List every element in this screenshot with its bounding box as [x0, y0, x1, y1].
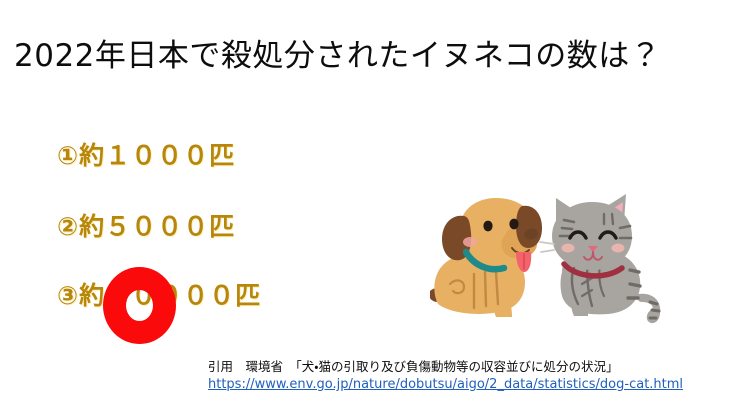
choice-option-1[interactable]: ①約１０００匹 — [57, 141, 235, 171]
red-answer-circle-icon — [103, 267, 176, 344]
citation-source: 引用 環境省 「犬・猫の引取り及び負傷動物等の収容並びに処分の状況」 — [208, 359, 619, 374]
citation: 引用 環境省 「犬・猫の引取り及び負傷動物等の収容並びに処分の状況」 https… — [208, 358, 683, 394]
citation-url-link[interactable]: https://www.env.go.jp/nature/dobutsu/aig… — [208, 376, 683, 394]
page-title: 2022年日本で殺処分されたイヌネコの数は？ — [14, 36, 661, 76]
dog-and-cat-illustration — [430, 192, 666, 332]
choice-option-2[interactable]: ②約５０００匹 — [57, 212, 235, 242]
cat-illustration — [540, 194, 660, 323]
dog-illustration — [430, 198, 542, 317]
slide-canvas: 2022年日本で殺処分されたイヌネコの数は？ ①約１０００匹 ②約５０００匹 ③… — [0, 0, 736, 414]
